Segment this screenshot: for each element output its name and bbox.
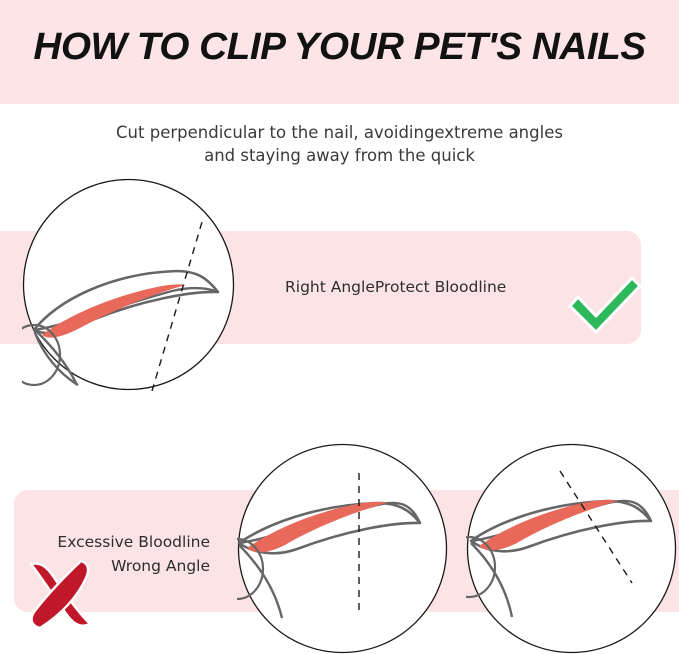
subtitle: Cut perpendicular to the nail, avoidinge…	[0, 121, 679, 167]
subtitle-line-2: and staying away from the quick	[0, 144, 679, 167]
cross-icon	[26, 558, 96, 630]
incorrect-label-line-1: Excessive Bloodline	[57, 533, 210, 551]
nail-cross-section-excessive-bloodline	[237, 443, 448, 654]
page-title: HOW TO CLIP YOUR PET'S NAILS	[0, 26, 679, 69]
correct-example-label: Right AngleProtect Bloodline	[285, 278, 506, 296]
subtitle-line-1: Cut perpendicular to the nail, avoidinge…	[116, 123, 563, 142]
infographic-root: HOW TO CLIP YOUR PET'S NAILS Cut perpend…	[0, 0, 679, 654]
check-icon	[568, 276, 642, 334]
nail-cross-section-wrong-angle	[466, 443, 677, 654]
nail-cross-section-correct	[22, 178, 235, 391]
